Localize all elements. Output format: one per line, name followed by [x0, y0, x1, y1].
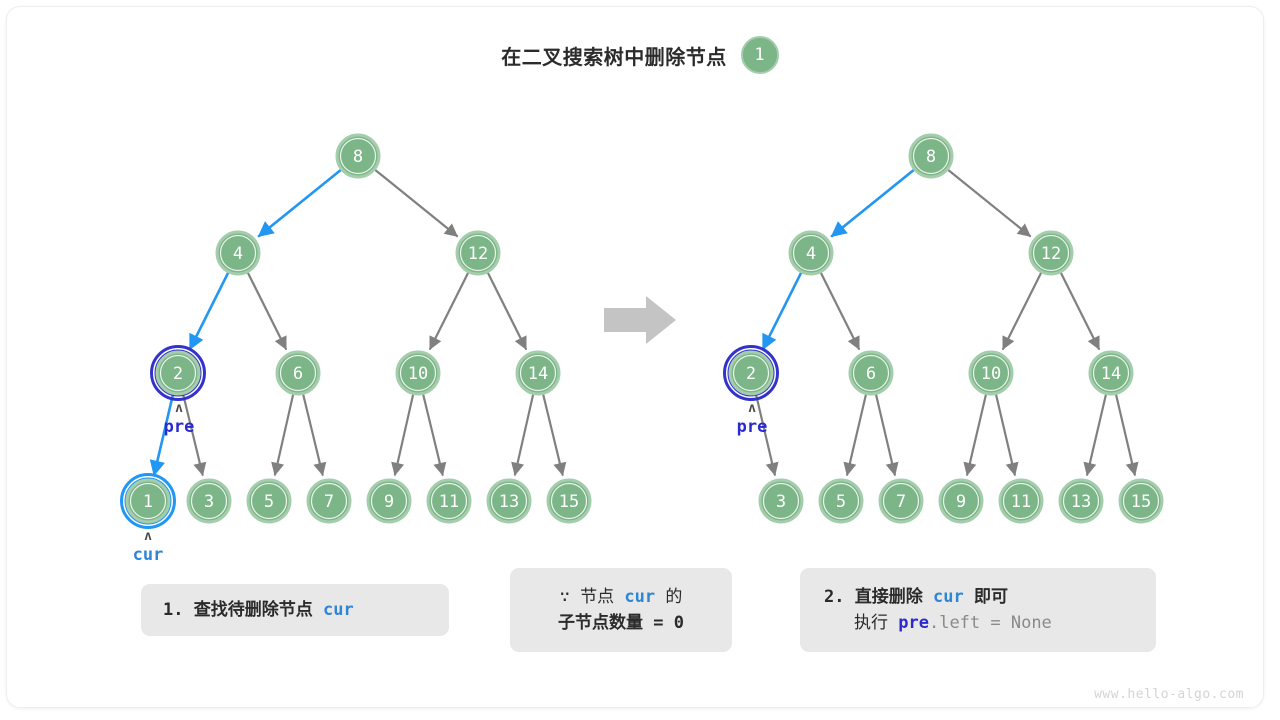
tree-node: 15 — [1120, 480, 1162, 522]
tree-node: 1 — [122, 475, 175, 528]
pointer-pre: ʌpre — [164, 401, 195, 437]
tree-node: 3 — [188, 480, 230, 522]
tree-edge — [847, 395, 866, 474]
node-label: 2 — [746, 364, 756, 384]
tree-edge — [376, 170, 457, 236]
tree-edge — [423, 395, 442, 474]
diagram-canvas: 在二叉搜索树中删除节点 1 84122610141357911131584122… — [0, 0, 1280, 720]
pointer-pre: ʌpre — [737, 401, 768, 437]
tree-node: 2 — [152, 347, 205, 400]
tree-edge — [821, 274, 859, 349]
tree-node: 14 — [1090, 352, 1132, 394]
tree-node: 11 — [428, 480, 470, 522]
tree-edge-highlight — [190, 274, 228, 349]
node-label: 6 — [293, 364, 303, 384]
reason-line1-code: cur — [624, 587, 655, 607]
caption-step-1: 1. 查找待删除节点 cur — [141, 584, 449, 636]
node-label: 6 — [866, 364, 876, 384]
tree-node: 12 — [457, 232, 499, 274]
tree-node: 8 — [910, 135, 952, 177]
node-label: 8 — [353, 147, 363, 167]
reason-symbol: ∵ — [560, 587, 570, 607]
tree-edge-highlight — [763, 274, 801, 349]
tree-node: 13 — [488, 480, 530, 522]
tree-edge — [395, 395, 413, 474]
reason-line1-tail: 的 — [665, 587, 682, 607]
tree-node: 7 — [880, 480, 922, 522]
tree-edge — [996, 395, 1015, 474]
pointer-cur: ʌcur — [133, 529, 164, 565]
node-label: 3 — [204, 492, 214, 512]
caption-reason: ∵ 节点 cur 的 子节点数量 = 0 — [510, 568, 732, 652]
tree-edge — [430, 274, 468, 349]
node-label: 11 — [439, 492, 459, 512]
caption-step2-tail: 即可 — [974, 587, 1008, 607]
caption-step2-line2-code: pre — [898, 613, 929, 633]
tree-edge — [949, 170, 1030, 236]
tree-edge — [275, 395, 293, 474]
tree-node: 13 — [1060, 480, 1102, 522]
tree-edge — [248, 274, 286, 349]
tree-node: 4 — [217, 232, 259, 274]
tree-edge — [543, 395, 562, 474]
reason-line2-text: 子节点数量 — [558, 613, 643, 633]
tree-node: 4 — [790, 232, 832, 274]
node-label: 10 — [981, 364, 1001, 384]
tree-edge — [515, 395, 533, 474]
node-label: 4 — [233, 244, 243, 264]
pointer-label: cur — [133, 545, 164, 565]
caption-step2-line2-rest: .left = None — [929, 613, 1052, 633]
tree-edge — [1116, 395, 1135, 474]
caption-step2-code: cur — [933, 587, 964, 607]
caption-step2-text: 直接删除 — [855, 587, 923, 607]
node-label: 8 — [926, 147, 936, 167]
node-label: 5 — [836, 492, 846, 512]
reason-line2-eq: = — [653, 613, 663, 633]
tree-node: 12 — [1030, 232, 1072, 274]
pointer-label: pre — [164, 417, 195, 437]
tree-node: 6 — [850, 352, 892, 394]
tree-node: 5 — [248, 480, 290, 522]
tree-edge — [1087, 395, 1106, 474]
tree-node: 9 — [368, 480, 410, 522]
pointer-caret-icon: ʌ — [144, 529, 152, 544]
node-label: 14 — [1101, 364, 1121, 384]
node-label: 12 — [1041, 244, 1061, 264]
tree-node: 6 — [277, 352, 319, 394]
node-label: 10 — [408, 364, 428, 384]
node-label: 7 — [896, 492, 906, 512]
tree-edge — [303, 395, 322, 474]
node-label: 12 — [468, 244, 488, 264]
node-label: 9 — [956, 492, 966, 512]
tree-node: 11 — [1000, 480, 1042, 522]
tree-edge — [1003, 274, 1041, 349]
caption-step2-prefix: 2. — [824, 587, 844, 607]
node-label: 13 — [499, 492, 519, 512]
caption-step2-line2-text: 执行 — [854, 613, 888, 633]
tree-edge — [488, 274, 526, 349]
node-label: 15 — [559, 492, 579, 512]
caption-step1-code: cur — [323, 600, 354, 620]
transition-arrow-icon — [604, 296, 676, 344]
pointer-caret-icon: ʌ — [748, 401, 756, 416]
caption-step-2: 2. 直接删除 cur 即可 执行 pre.left = None — [800, 568, 1156, 652]
tree-node: 5 — [820, 480, 862, 522]
reason-line2-value: 0 — [674, 613, 684, 633]
node-label: 2 — [173, 364, 183, 384]
tree-node: 7 — [308, 480, 350, 522]
tree-edge-highlight — [832, 170, 913, 236]
node-label: 11 — [1011, 492, 1031, 512]
tree-node: 8 — [337, 135, 379, 177]
tree-node: 14 — [517, 352, 559, 394]
node-label: 14 — [528, 364, 548, 384]
tree-node: 2 — [725, 347, 778, 400]
pointer-label: pre — [737, 417, 768, 437]
tree-edge — [1061, 274, 1099, 349]
node-label: 4 — [806, 244, 816, 264]
pointer-caret-icon: ʌ — [175, 401, 183, 416]
reason-line1-text: 节点 — [580, 587, 614, 607]
node-label: 9 — [384, 492, 394, 512]
node-label: 7 — [324, 492, 334, 512]
tree-edge-highlight — [259, 170, 340, 236]
tree-node: 15 — [548, 480, 590, 522]
tree-node: 3 — [760, 480, 802, 522]
tree-edge — [876, 395, 895, 474]
node-label: 1 — [143, 492, 153, 512]
caption-step1-prefix: 1. — [163, 600, 183, 620]
watermark: www.hello-algo.com — [1094, 687, 1244, 702]
caption-step1-text: 查找待删除节点 — [194, 600, 313, 620]
node-label: 5 — [264, 492, 274, 512]
tree-node: 10 — [397, 352, 439, 394]
tree-node: 10 — [970, 352, 1012, 394]
node-label: 3 — [776, 492, 786, 512]
tree-edge — [967, 395, 986, 474]
tree-node: 9 — [940, 480, 982, 522]
node-label: 15 — [1131, 492, 1151, 512]
node-label: 13 — [1071, 492, 1091, 512]
